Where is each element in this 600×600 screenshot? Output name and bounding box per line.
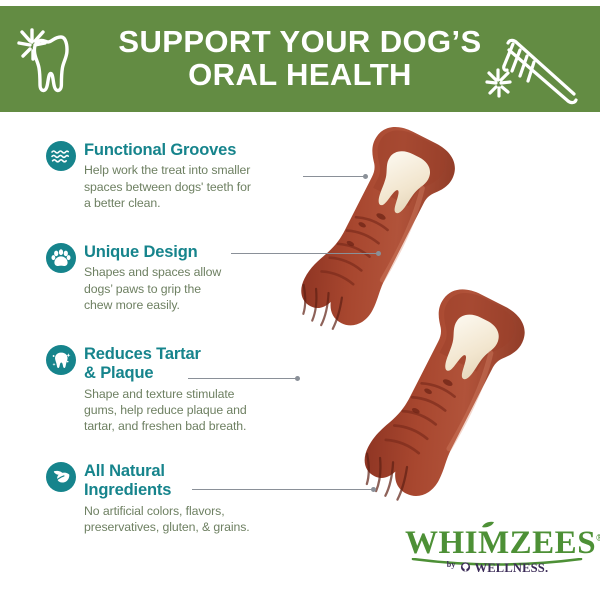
title-line-1: SUPPORT YOUR DOG’S [118,27,481,58]
paw-print-icon [46,243,76,273]
feature-item-functional-grooves: Functional Grooves Help work the treat i… [46,141,316,211]
feature-title: Unique Design [84,243,316,262]
feature-description: Shapes and spaces allow dogs’ paws to gr… [84,264,316,313]
feature-item-reduces-tartar-plaque: Reduces Tartar & Plaque Shape and textur… [46,345,316,435]
feature-description: Shape and texture stimulate gums, help r… [84,386,316,435]
feature-title: All Natural Ingredients [84,462,316,501]
brand-logo: WHIMZEES® by WELLNESS. [405,527,590,589]
feature-title: Functional Grooves [84,141,316,160]
logo-registered-mark: ® [596,533,600,544]
feature-item-all-natural-ingredients: All Natural Ingredients No artificial co… [46,462,316,535]
infographic-page: SUPPORT YOUR DOG’S ORAL HEALTH [0,0,600,600]
logo-by-text: by [447,560,456,569]
product-image-dental-chew-bottom [350,280,560,535]
logo-wordmark: WHIMZEES® [405,527,590,560]
title-line-2: ORAL HEALTH [188,60,412,91]
leaf-icon [46,462,76,492]
sparkling-tooth-icon [46,345,76,375]
feature-description: Help work the treat into smaller spaces … [84,162,316,211]
logo-sub-brand: by WELLNESS. [405,561,590,575]
feature-item-unique-design: Unique Design Shapes and spaces allow do… [46,243,316,313]
logo-leaf-icon [480,521,496,534]
feature-description: No artificial colors, flavors, preservat… [84,503,316,536]
logo-sub-registered: . [545,561,548,575]
feature-title: Reduces Tartar & Plaque [84,345,316,384]
toothbrush-sparkle-icon [482,22,582,112]
waves-grooves-icon [46,141,76,171]
wellness-tree-icon [458,562,473,574]
logo-wellness-text: WELLNESS [475,561,545,575]
logo-brand-text: WHIMZEES [405,525,596,561]
header-banner: SUPPORT YOUR DOG’S ORAL HEALTH [0,6,600,112]
